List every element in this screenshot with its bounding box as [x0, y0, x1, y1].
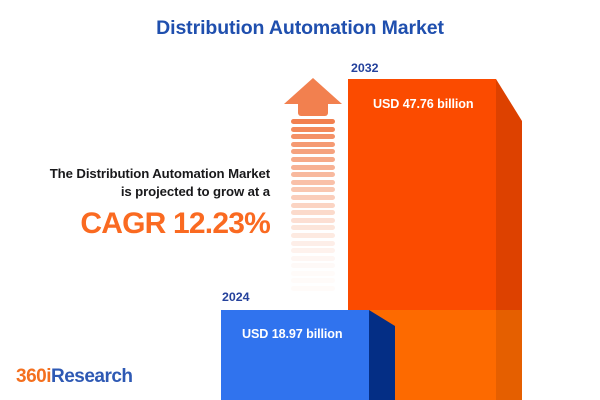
value-label-forecast: USD 47.76 billion [373, 96, 473, 112]
bar-forecast-side-lower [496, 310, 522, 400]
infographic-root: Distribution Automation Market The Distr… [0, 0, 600, 400]
brand-logo: 360iResearch [16, 366, 133, 388]
value-label-base: USD 18.97 billion [242, 326, 342, 342]
year-label-base: 2024 [222, 289, 250, 305]
logo-part-research: Research [51, 366, 133, 387]
year-label-forecast: 2032 [351, 60, 379, 76]
logo-part-360: 360 [16, 366, 46, 387]
bar-base-front [221, 310, 369, 400]
bars-layer: 2032 2024 USD 47.76 billion USD 18.97 bi… [0, 0, 600, 400]
